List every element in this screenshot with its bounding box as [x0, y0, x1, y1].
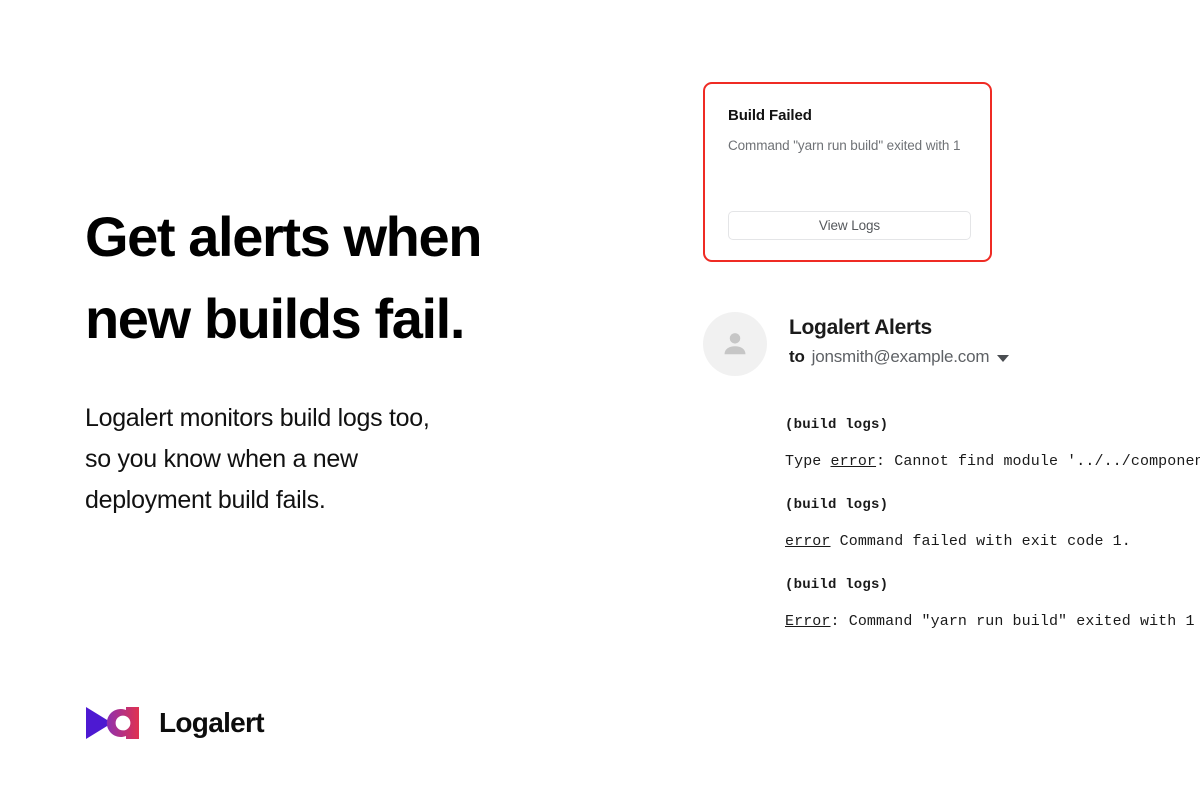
build-failed-alert-card: Build Failed Command "yarn run build" ex…: [703, 82, 992, 262]
sender-meta: Logalert Alerts to jonsmith@example.com: [789, 312, 1009, 369]
logalert-play-a-mark-icon: [85, 705, 141, 741]
hero-subcopy: Logalert monitors build logs too, so you…: [85, 398, 555, 521]
email-preview-column: Build Failed Command "yarn run build" ex…: [703, 0, 1200, 800]
log-group: (build logs) Type error: Cannot find mod…: [785, 415, 1200, 472]
log-line: Type error: Cannot find module '../../co…: [785, 451, 1200, 472]
sender-name: Logalert Alerts: [789, 314, 1009, 341]
subcopy-line-2: so you know when a new: [85, 445, 358, 473]
log-line-suffix: Command failed with exit code 1.: [831, 533, 1131, 550]
page-title: Get alerts when new builds fail.: [85, 196, 625, 360]
headline-line-2: new builds fail.: [85, 287, 464, 350]
log-error-link[interactable]: error: [785, 533, 831, 550]
alert-card-body: Command "yarn run build" exited with 1: [728, 136, 967, 155]
email-log-body: (build logs) Type error: Cannot find mod…: [785, 415, 1200, 632]
log-error-link[interactable]: Error: [785, 613, 831, 630]
alert-card-title: Build Failed: [728, 106, 967, 126]
brand-logo[interactable]: Logalert: [85, 705, 264, 741]
log-group: (build logs) error Command failed with e…: [785, 495, 1200, 552]
avatar[interactable]: [703, 312, 767, 376]
log-line: error Command failed with exit code 1.: [785, 531, 1200, 552]
log-line-suffix: : Cannot find module '../../component: [876, 453, 1200, 470]
recipient-line: to jonsmith@example.com: [789, 345, 1009, 369]
log-line-prefix: Type: [785, 453, 831, 470]
caret-down-icon[interactable]: [997, 355, 1009, 362]
to-label: to: [789, 345, 805, 369]
log-label: (build logs): [785, 575, 1200, 595]
marketing-hero-page: Get alerts when new builds fail. Logaler…: [0, 0, 1200, 800]
subcopy-line-3: deployment build fails.: [85, 486, 325, 514]
view-logs-button[interactable]: View Logs: [728, 211, 971, 240]
recipient-address: jonsmith@example.com: [812, 345, 990, 369]
log-line: Error: Command "yarn run build" exited w…: [785, 611, 1200, 632]
log-group: (build logs) Error: Command "yarn run bu…: [785, 575, 1200, 632]
brand-wordmark: Logalert: [159, 707, 264, 739]
log-error-link[interactable]: error: [831, 453, 877, 470]
log-label: (build logs): [785, 415, 1200, 435]
subcopy-line-1: Logalert monitors build logs too,: [85, 404, 429, 432]
headline-line-1: Get alerts when: [85, 205, 481, 268]
log-label: (build logs): [785, 495, 1200, 515]
hero-left-column: Get alerts when new builds fail. Logaler…: [85, 0, 645, 800]
log-line-suffix: : Command "yarn run build" exited with 1: [831, 613, 1195, 630]
person-avatar-icon: [718, 327, 752, 361]
email-sender-row: Logalert Alerts to jonsmith@example.com: [703, 312, 1009, 376]
